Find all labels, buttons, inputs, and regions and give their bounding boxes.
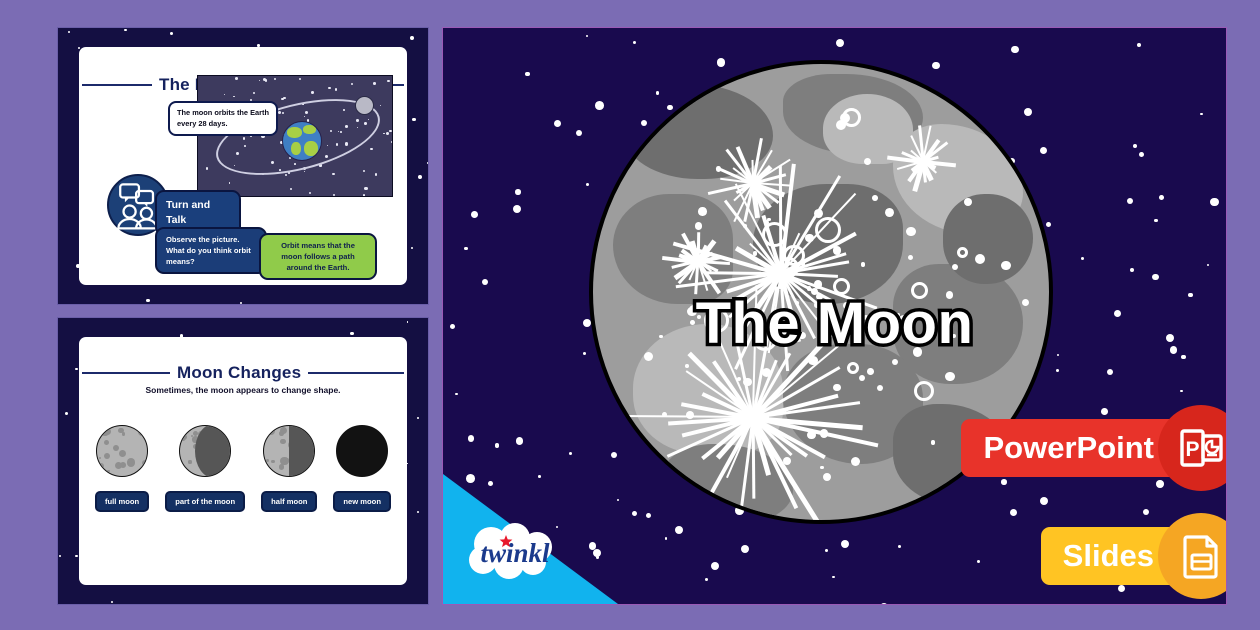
star xyxy=(370,148,373,151)
slides-badge-label: Slides xyxy=(1063,538,1154,574)
star xyxy=(586,35,588,37)
star xyxy=(274,78,276,80)
main-title: The Moon xyxy=(443,290,1226,357)
star xyxy=(311,91,314,94)
star xyxy=(1024,108,1032,116)
star xyxy=(1107,369,1113,375)
star xyxy=(1118,585,1126,593)
crater xyxy=(99,457,101,459)
svg-text:P: P xyxy=(1185,438,1199,461)
crater-dot xyxy=(964,198,972,206)
star xyxy=(283,97,286,100)
star xyxy=(832,576,834,578)
moon-phase-label: part of the moon xyxy=(165,491,245,512)
star xyxy=(1143,509,1149,515)
header-rule-left xyxy=(82,372,170,374)
star xyxy=(1081,257,1084,260)
powerpoint-icon: P xyxy=(1158,405,1227,491)
crater xyxy=(914,381,934,401)
star xyxy=(206,167,209,170)
star xyxy=(1180,390,1183,393)
star xyxy=(373,82,376,85)
star xyxy=(717,58,726,67)
star xyxy=(304,171,305,172)
crater xyxy=(266,459,269,462)
star xyxy=(977,560,980,563)
mare-patch xyxy=(823,94,913,164)
star xyxy=(335,88,338,91)
crater xyxy=(142,460,148,466)
crater-dot xyxy=(975,254,985,264)
star xyxy=(265,79,268,82)
star xyxy=(1130,268,1134,272)
star xyxy=(1011,46,1018,53)
star xyxy=(259,80,260,81)
star xyxy=(595,101,604,110)
star xyxy=(380,105,381,106)
star xyxy=(836,39,844,47)
answer-bubble: Orbit means that the moon follows a path… xyxy=(259,233,377,280)
star xyxy=(393,163,394,166)
star xyxy=(146,299,150,303)
moon-phase-disc xyxy=(263,425,315,477)
crater xyxy=(107,470,110,473)
moon-phase-row: full moonpart of the moonhalf moonnew mo… xyxy=(87,425,399,512)
star xyxy=(468,435,475,442)
star xyxy=(586,183,589,186)
star xyxy=(290,188,292,190)
star xyxy=(1127,198,1133,204)
crater xyxy=(280,427,287,434)
star xyxy=(1156,480,1164,488)
star xyxy=(285,174,287,176)
star xyxy=(328,87,331,90)
star xyxy=(333,194,335,196)
slide-canvas: The Moon The moon orbits the Earth every… xyxy=(79,47,407,285)
crater xyxy=(138,428,146,436)
thumbnail-slide-the-moon[interactable]: The Moon The moon orbits the Earth every… xyxy=(57,27,429,305)
crater xyxy=(847,362,859,374)
crater-dot xyxy=(851,457,860,466)
star xyxy=(646,513,651,518)
star xyxy=(471,211,478,218)
star xyxy=(363,170,365,172)
star xyxy=(675,526,683,534)
star xyxy=(1154,219,1158,223)
star xyxy=(253,92,255,94)
crater xyxy=(104,440,109,445)
crater xyxy=(957,247,968,258)
thumbnail-slide-moon-changes[interactable]: Moon Changes Sometimes, the moon appears… xyxy=(57,317,429,605)
star xyxy=(412,118,416,122)
star xyxy=(111,601,113,603)
moon-phase-label: new moon xyxy=(333,491,391,512)
star xyxy=(235,77,238,80)
crater-dot xyxy=(859,375,865,381)
crater xyxy=(103,428,111,436)
moon-phase-item: full moon xyxy=(95,425,149,512)
powerpoint-badge[interactable]: PowerPoint P xyxy=(961,419,1227,477)
slide-header: Moon Changes xyxy=(79,363,407,383)
crater xyxy=(280,439,285,444)
star xyxy=(417,417,419,419)
question-bubble: Observe the picture. What do you think o… xyxy=(155,227,267,274)
star xyxy=(455,393,457,395)
star xyxy=(711,562,719,570)
crater-dot xyxy=(877,385,883,391)
crater-dot xyxy=(867,368,874,375)
crater-dot xyxy=(864,158,871,165)
shadow xyxy=(289,425,315,477)
star xyxy=(351,83,353,85)
star xyxy=(240,302,242,304)
crater-dot xyxy=(872,195,878,201)
header-rule-left xyxy=(82,84,152,86)
moon-phase-disc xyxy=(336,425,388,477)
star xyxy=(611,452,617,458)
crater-dot xyxy=(685,364,689,368)
crater xyxy=(267,427,275,435)
star xyxy=(1137,43,1141,47)
star xyxy=(418,175,422,179)
star xyxy=(576,130,582,136)
moon-phase-item: part of the moon xyxy=(165,425,245,512)
crater xyxy=(127,458,136,467)
star xyxy=(495,443,499,447)
star xyxy=(880,603,889,605)
crater xyxy=(113,445,119,451)
star xyxy=(224,94,225,95)
star xyxy=(554,120,561,127)
main-slide-preview[interactable]: The Moon twinkl PowerPoint xyxy=(442,27,1227,605)
star xyxy=(68,31,70,33)
powerpoint-badge-label: PowerPoint xyxy=(983,430,1154,466)
mare-patch xyxy=(623,84,773,179)
star xyxy=(75,555,77,557)
star xyxy=(1207,264,1209,266)
slides-badge[interactable]: Slides xyxy=(1041,527,1227,585)
star xyxy=(841,540,850,549)
star xyxy=(515,189,520,194)
star xyxy=(229,182,230,183)
moon-phase-item: half moon xyxy=(261,425,317,512)
star xyxy=(75,368,78,371)
star xyxy=(525,72,530,77)
star xyxy=(389,130,391,132)
star xyxy=(65,412,68,415)
star xyxy=(464,247,468,251)
star xyxy=(407,321,409,323)
crater-dot xyxy=(833,384,840,391)
star xyxy=(1133,144,1137,148)
moon-phase-item: new moon xyxy=(333,425,391,512)
crater-dot xyxy=(1001,261,1010,270)
crater-dot xyxy=(698,207,707,216)
slide-title: Moon Changes xyxy=(177,363,301,383)
earth-icon xyxy=(282,121,322,161)
star xyxy=(898,545,901,548)
star xyxy=(392,163,393,165)
crater-dot xyxy=(945,372,955,382)
google-slides-icon xyxy=(1158,513,1227,599)
star xyxy=(350,332,354,336)
star xyxy=(569,452,572,455)
star xyxy=(513,205,521,213)
crater xyxy=(98,463,104,469)
moon-phase-disc xyxy=(179,425,231,477)
star xyxy=(1200,113,1202,115)
star xyxy=(124,29,127,32)
star xyxy=(1210,198,1219,207)
star xyxy=(375,173,377,175)
star xyxy=(516,437,523,444)
crater-dot xyxy=(908,255,913,260)
shadow xyxy=(195,425,231,477)
star xyxy=(427,162,429,164)
mare-patch xyxy=(943,194,1033,284)
crater xyxy=(271,460,275,464)
crater-dot xyxy=(767,218,771,222)
slide-subtitle: Sometimes, the moon appears to change sh… xyxy=(79,385,407,395)
star xyxy=(387,80,390,83)
star xyxy=(363,194,365,196)
fact-callout: The moon orbits the Earth every 28 days. xyxy=(168,101,278,136)
twinkl-logo[interactable]: twinkl xyxy=(461,522,569,582)
star xyxy=(391,141,393,143)
moon-phase-label: full moon xyxy=(95,491,149,512)
crater xyxy=(181,434,187,440)
star xyxy=(410,36,414,40)
screenshot-root: The Moon The moon orbits the Earth every… xyxy=(0,0,1260,630)
crater xyxy=(188,460,191,463)
star xyxy=(386,132,389,135)
star xyxy=(332,173,335,176)
moon-phase-label: half moon xyxy=(261,491,317,512)
star xyxy=(59,555,61,557)
star xyxy=(1152,274,1159,281)
crater-dot xyxy=(823,473,832,482)
star xyxy=(1159,195,1164,200)
star xyxy=(170,32,173,35)
star xyxy=(383,133,384,134)
crater-dot xyxy=(861,262,865,266)
star xyxy=(309,192,311,194)
star xyxy=(411,247,413,249)
moon-icon xyxy=(355,96,374,115)
star xyxy=(299,78,302,81)
star xyxy=(932,62,939,69)
star xyxy=(417,511,420,514)
star xyxy=(1040,147,1047,154)
star xyxy=(233,96,235,98)
star xyxy=(632,511,637,516)
star xyxy=(1101,408,1108,415)
slide-canvas: Moon Changes Sometimes, the moon appears… xyxy=(79,337,407,585)
crater xyxy=(104,453,110,459)
star xyxy=(1056,369,1059,372)
star xyxy=(705,578,708,581)
star xyxy=(482,279,488,285)
star xyxy=(1010,509,1017,516)
crater xyxy=(279,464,284,469)
crater-dot xyxy=(820,466,824,470)
star xyxy=(633,41,636,44)
svg-text:twinkl: twinkl xyxy=(480,538,550,568)
star xyxy=(665,537,668,540)
crater xyxy=(119,450,126,457)
header-rule-right xyxy=(308,372,404,374)
star xyxy=(1040,497,1048,505)
crater xyxy=(115,462,122,469)
moon-phase-disc xyxy=(96,425,148,477)
star xyxy=(1139,152,1144,157)
star xyxy=(741,545,749,553)
star xyxy=(364,187,367,190)
crater-dot xyxy=(906,227,915,236)
crater-dot xyxy=(885,208,894,217)
star xyxy=(1046,222,1051,227)
star xyxy=(825,549,829,553)
